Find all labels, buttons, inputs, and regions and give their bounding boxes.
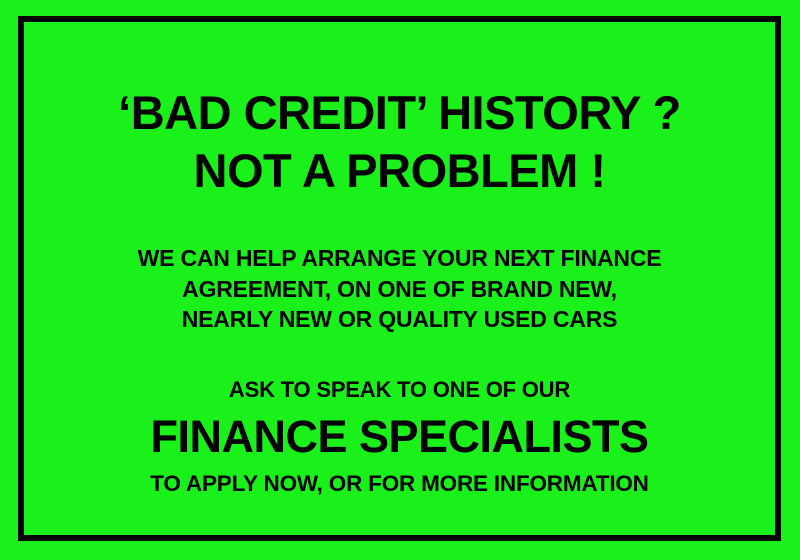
body-paragraph: WE CAN HELP ARRANGE YOUR NEXT FINANCE AG… — [138, 243, 662, 335]
poster-border-frame: ‘BAD CREDIT’ HISTORY ? NOT A PROBLEM ! W… — [18, 16, 781, 541]
cta-lead-text: ASK TO SPEAK TO ONE OF OUR — [150, 376, 648, 403]
headline-line-1: ‘BAD CREDIT’ HISTORY ? — [118, 84, 681, 141]
body-line-3: NEARLY NEW OR QUALITY USED CARS — [138, 304, 662, 335]
headline-line-2: NOT A PROBLEM ! — [194, 142, 606, 199]
call-to-action-block: ASK TO SPEAK TO ONE OF OUR FINANCE SPECI… — [150, 376, 648, 498]
cta-headline: FINANCE SPECIALISTS — [150, 411, 648, 463]
body-line-1: WE CAN HELP ARRANGE YOUR NEXT FINANCE — [138, 243, 662, 274]
poster-content: ‘BAD CREDIT’ HISTORY ? NOT A PROBLEM ! W… — [24, 22, 775, 535]
cta-footer-text: TO APPLY NOW, OR FOR MORE INFORMATION — [150, 470, 648, 498]
body-line-2: AGREEMENT, ON ONE OF BRAND NEW, — [138, 274, 662, 305]
advertisement-poster: ‘BAD CREDIT’ HISTORY ? NOT A PROBLEM ! W… — [0, 0, 800, 560]
